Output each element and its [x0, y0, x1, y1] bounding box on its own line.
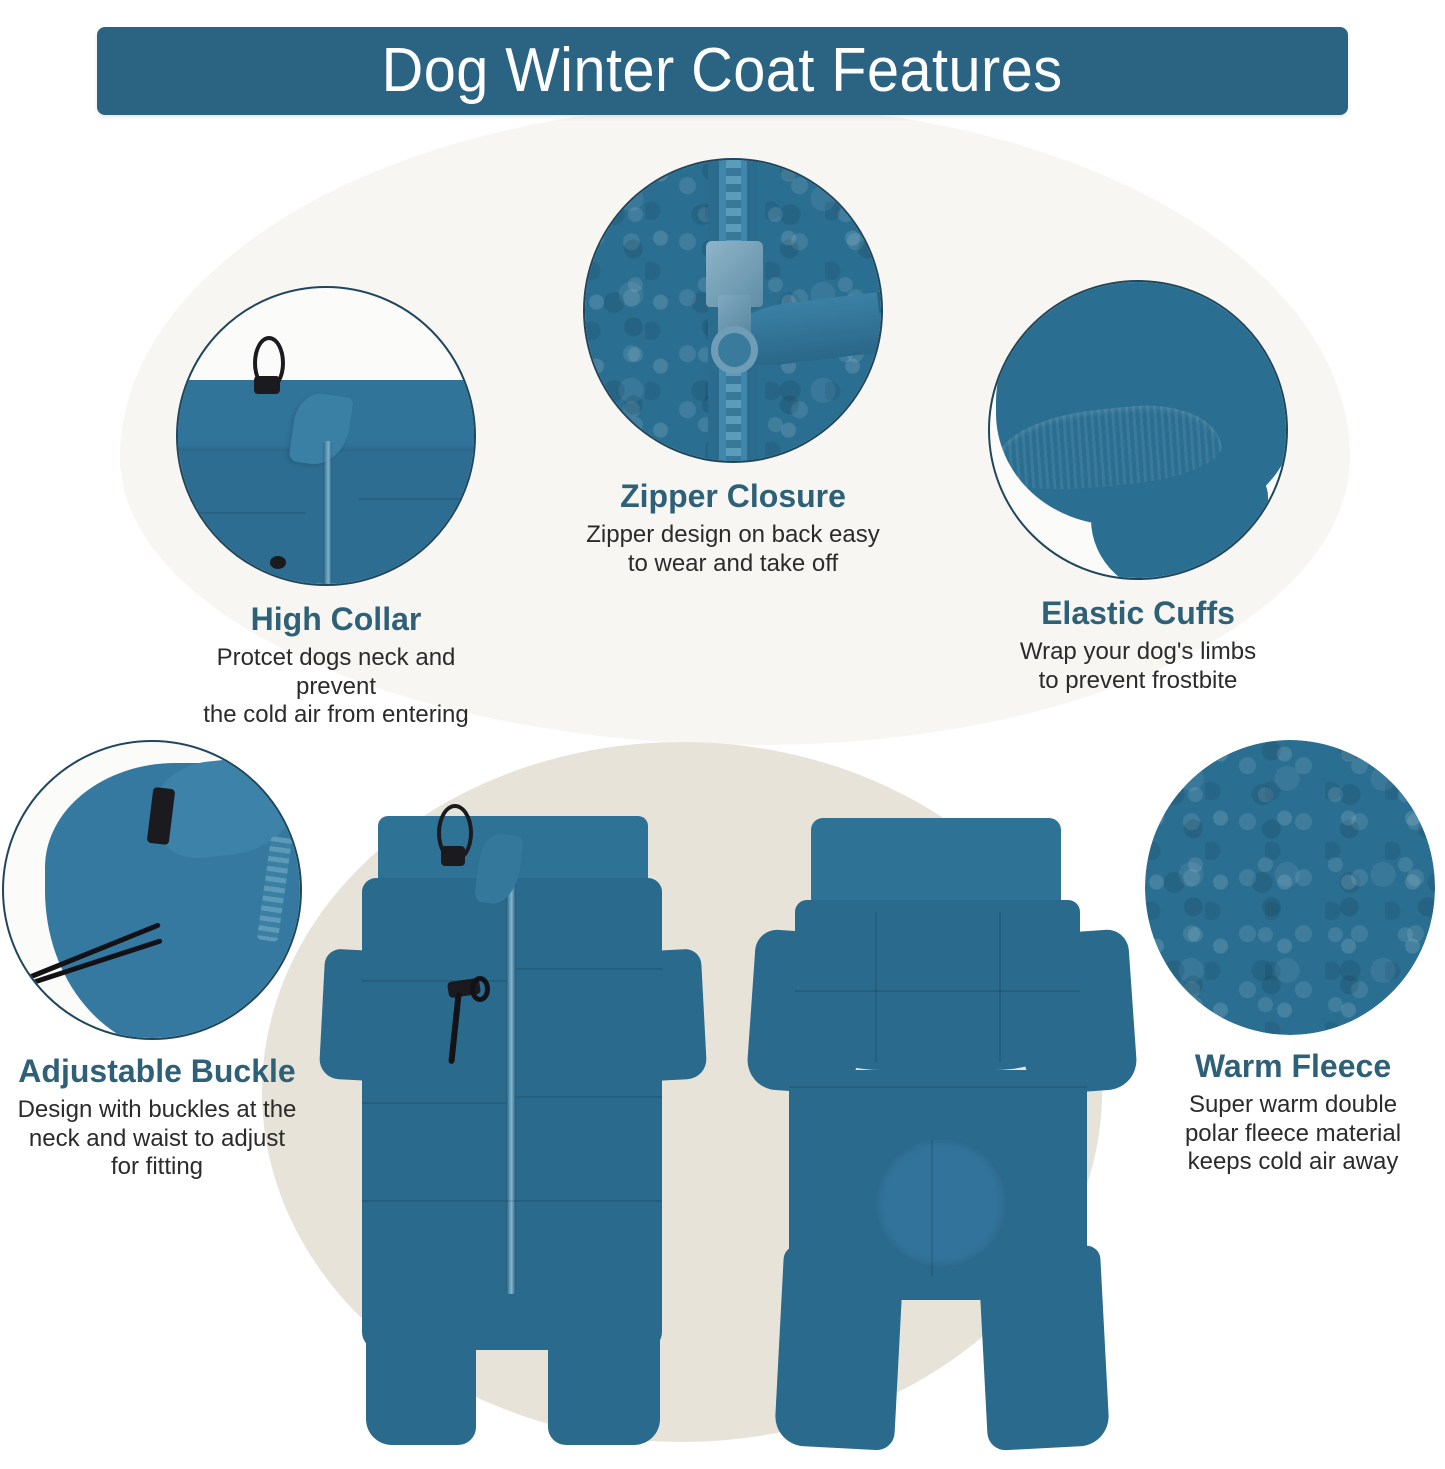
collar-cord-lock — [254, 376, 280, 394]
feature-zipper-closure: Zipper Closure Zipper design on back eas… — [583, 158, 883, 578]
back-collar-band — [811, 818, 1061, 908]
elastic-cuffs-title: Elastic Cuffs — [988, 596, 1288, 632]
collar-zipper — [323, 441, 332, 586]
front-view-photo — [300, 800, 720, 1460]
back-seam — [789, 1086, 1087, 1088]
title-banner: Dog Winter Coat Features — [97, 27, 1348, 115]
feature-adjustable-buckle: Adjustable Buckle Design with buckles at… — [2, 740, 312, 1182]
zipper-closure-caption: Zipper Closure Zipper design on back eas… — [583, 479, 883, 578]
adjustable-buckle-caption: Adjustable Buckle Design with buckles at… — [2, 1054, 312, 1182]
zipper-closure-photo — [583, 158, 883, 463]
collar-garment-shape — [176, 380, 476, 586]
back-belly-opening — [875, 1138, 1007, 1268]
warm-fleece-texture — [1145, 740, 1435, 1035]
front-center-zipper — [506, 862, 516, 1294]
warm-fleece-title: Warm Fleece — [1145, 1049, 1441, 1085]
back-right-leg — [978, 1245, 1110, 1451]
front-left-leg — [366, 1320, 476, 1445]
warm-fleece-description: Super warm double polar fleece material … — [1145, 1091, 1441, 1177]
zipper-closure-description: Zipper design on back easy to wear and t… — [583, 521, 883, 579]
front-seam — [516, 1096, 662, 1098]
page-title: Dog Winter Coat Features — [382, 40, 1063, 102]
zipper-pull-ring-icon — [711, 326, 758, 374]
front-neck-cord-lock — [441, 846, 465, 866]
front-seam — [362, 1102, 506, 1104]
warm-fleece-photo — [1145, 740, 1435, 1035]
front-left-sleeve — [319, 948, 392, 1081]
front-seam — [362, 1200, 662, 1202]
elastic-cuffs-photo — [988, 280, 1288, 580]
high-collar-photo — [176, 286, 476, 586]
collar-seam — [359, 498, 476, 500]
back-seam — [875, 912, 877, 1062]
high-collar-caption: High Collar Protcet dogs neck and preven… — [176, 602, 496, 730]
feature-high-collar: High Collar Protcet dogs neck and preven… — [176, 286, 496, 730]
front-seam — [516, 968, 662, 970]
back-belly-seam — [931, 1140, 933, 1276]
front-seam — [362, 980, 506, 982]
front-right-leg — [548, 1320, 660, 1445]
warm-fleece-caption: Warm Fleece Super warm double polar flee… — [1145, 1049, 1441, 1177]
adjustable-buckle-photo — [2, 740, 302, 1040]
collar-seam — [176, 512, 306, 514]
elastic-cuffs-description: Wrap your dog's limbs to prevent frostbi… — [988, 638, 1288, 696]
back-view-photo — [745, 800, 1145, 1460]
high-collar-description: Protcet dogs neck and prevent the cold a… — [176, 644, 496, 730]
adjustable-buckle-title: Adjustable Buckle — [2, 1054, 312, 1090]
elastic-cuffs-caption: Elastic Cuffs Wrap your dog's limbs to p… — [988, 596, 1288, 695]
collar-lower-cord-lock — [270, 556, 286, 569]
high-collar-title: High Collar — [176, 602, 496, 638]
feature-elastic-cuffs: Elastic Cuffs Wrap your dog's limbs to p… — [988, 280, 1288, 695]
back-seam — [999, 912, 1001, 1062]
feature-warm-fleece: Warm Fleece Super warm double polar flee… — [1145, 740, 1441, 1177]
back-left-leg — [774, 1245, 904, 1451]
product-infographic: Dog Winter Coat Features High Collar Pro… — [0, 0, 1445, 1469]
zipper-closure-title: Zipper Closure — [583, 479, 883, 515]
adjustable-buckle-description: Design with buckles at the neck and wais… — [2, 1096, 312, 1182]
back-seam — [795, 990, 1080, 992]
